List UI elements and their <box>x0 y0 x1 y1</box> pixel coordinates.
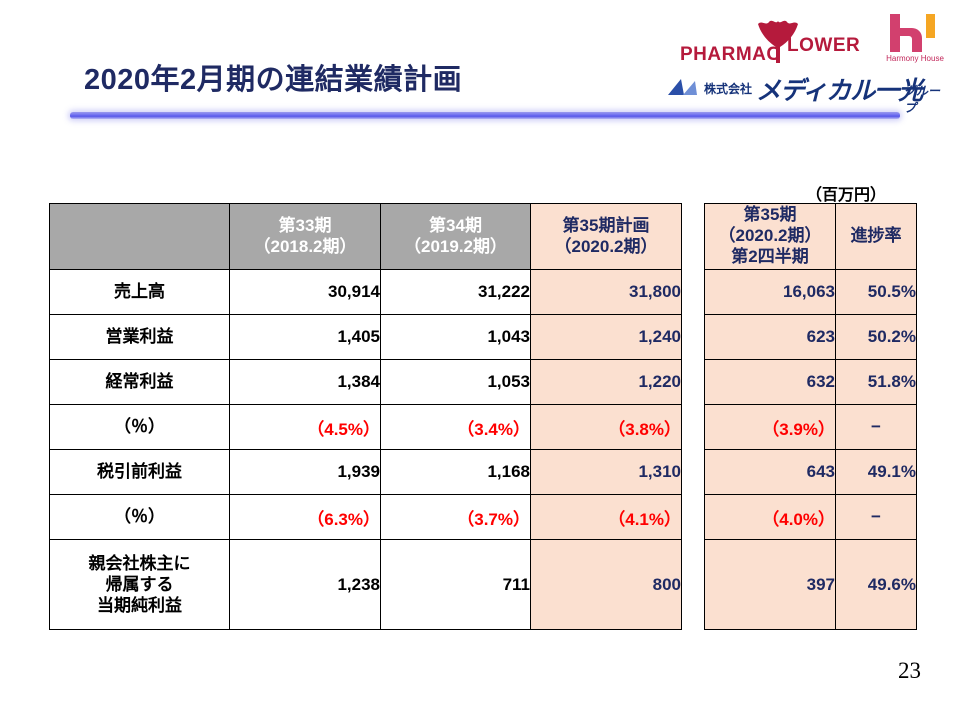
title-underline-rule <box>70 112 900 119</box>
cell-p35-plan: （4.1%） <box>531 495 682 540</box>
row-label-line-1: 親会社株主に <box>50 553 229 574</box>
page-title: 2020年2月期の連結業績計画 <box>84 56 462 98</box>
row-label: 親会社株主に 帰属する 当期純利益 <box>50 540 230 630</box>
header-cell-period-35-q2: 第35期 （2020.2期） 第2四半期 <box>705 204 836 270</box>
table-header-row: 第35期 （2020.2期） 第2四半期 進捗率 <box>705 204 917 270</box>
cell-p35-plan: 31,800 <box>531 270 682 315</box>
header-cell-progress-rate: 進捗率 <box>836 204 917 270</box>
pharmacy-flower-logo: PHARMAC LOWER <box>680 20 870 68</box>
table-row: 親会社株主に 帰属する 当期純利益 1,238 711 800 <box>50 540 682 630</box>
cell-p34: 31,222 <box>381 270 531 315</box>
table-row: （3.9%） − <box>705 405 917 450</box>
medical-logo-company-prefix: 株式会社 <box>704 80 752 97</box>
cell-p33: 1,405 <box>230 315 381 360</box>
cell-p35-plan: 1,310 <box>531 450 682 495</box>
table-row: 623 50.2% <box>705 315 917 360</box>
table-row: 営業利益 1,405 1,043 1,240 <box>50 315 682 360</box>
cell-rate: 50.2% <box>836 315 917 360</box>
triangle-swoosh-icon <box>668 78 698 96</box>
cell-p33: 1,939 <box>230 450 381 495</box>
row-label: （％） <box>50 405 230 450</box>
header-line-1: 第35期計画 <box>531 216 681 237</box>
header-line-1: 第35期 <box>705 205 835 226</box>
header-line-3: 第2四半期 <box>705 247 835 268</box>
row-label: 営業利益 <box>50 315 230 360</box>
cell-rate: 50.5% <box>836 270 917 315</box>
cell-p34: （3.4%） <box>381 405 531 450</box>
row-label: 経常利益 <box>50 360 230 405</box>
cell-q2: 16,063 <box>705 270 836 315</box>
header-line-2: （2020.2期） <box>531 237 681 258</box>
cell-p33: （6.3%） <box>230 495 381 540</box>
header-cell-period-34: 第34期 （2019.2期） <box>381 204 531 270</box>
table-row: 税引前利益 1,939 1,168 1,310 <box>50 450 682 495</box>
cell-rate: 49.1% <box>836 450 917 495</box>
medical-logo-suffix: グループ <box>904 82 948 116</box>
header-line-2: （2019.2期） <box>381 237 530 258</box>
header-line-1: 第34期 <box>381 216 530 237</box>
cell-rate: − <box>836 495 917 540</box>
header-line-2: （2020.2期） <box>705 226 835 247</box>
cell-q2: （3.9%） <box>705 405 836 450</box>
harmony-house-caption: Harmony House <box>874 54 956 63</box>
logo-area: PHARMAC LOWER Harmony House 株式会社 メディカル一光… <box>640 0 960 120</box>
row-label-line-3: 当期純利益 <box>50 595 229 616</box>
header-cell-period-35-plan: 第35期計画 （2020.2期） <box>531 204 682 270</box>
table-row: 売上高 30,914 31,222 31,800 <box>50 270 682 315</box>
row-label: （％） <box>50 495 230 540</box>
table-row: （％） （6.3%） （3.7%） （4.1%） <box>50 495 682 540</box>
pharmacy-logo-right-text: LOWER <box>787 35 860 57</box>
cell-p33: 30,914 <box>230 270 381 315</box>
unit-note: （百万円） <box>806 181 886 205</box>
table-row: 397 49.6% <box>705 540 917 630</box>
cell-q2: 623 <box>705 315 836 360</box>
header-line-1: 第33期 <box>230 216 380 237</box>
cell-p35-plan: 1,240 <box>531 315 682 360</box>
consolidated-results-table: 第33期 （2018.2期） 第34期 （2019.2期） 第35期計画 （20… <box>49 203 682 630</box>
table-row: 643 49.1% <box>705 450 917 495</box>
cell-p35-plan: （3.8%） <box>531 405 682 450</box>
row-label: 税引前利益 <box>50 450 230 495</box>
cell-rate: 51.8% <box>836 360 917 405</box>
cell-rate: 49.6% <box>836 540 917 630</box>
h-letter-icon <box>874 12 956 54</box>
row-label: 売上高 <box>50 270 230 315</box>
table-row: （％） （4.5%） （3.4%） （3.8%） <box>50 405 682 450</box>
cell-p34: （3.7%） <box>381 495 531 540</box>
cell-p34: 1,043 <box>381 315 531 360</box>
cell-p35-plan: 1,220 <box>531 360 682 405</box>
table-header-row: 第33期 （2018.2期） 第34期 （2019.2期） 第35期計画 （20… <box>50 204 682 270</box>
table-row: 経常利益 1,384 1,053 1,220 <box>50 360 682 405</box>
cell-q2: 643 <box>705 450 836 495</box>
cell-q2: （4.0%） <box>705 495 836 540</box>
cell-p34: 711 <box>381 540 531 630</box>
table-row: 16,063 50.5% <box>705 270 917 315</box>
cell-p33: （4.5%） <box>230 405 381 450</box>
q2-progress-table: 第35期 （2020.2期） 第2四半期 進捗率 16,063 50.5% 62… <box>704 203 917 630</box>
cell-p33: 1,238 <box>230 540 381 630</box>
row-label-line-2: 帰属する <box>50 574 229 595</box>
cell-p33: 1,384 <box>230 360 381 405</box>
header-cell-blank <box>50 204 230 270</box>
table-row: （4.0%） − <box>705 495 917 540</box>
medical-logo-name: メディカル一光 <box>756 71 922 107</box>
cell-q2: 397 <box>705 540 836 630</box>
page-number: 23 <box>898 658 921 684</box>
cell-p34: 1,053 <box>381 360 531 405</box>
cell-rate: − <box>836 405 917 450</box>
medical-ikko-group-logo: 株式会社 メディカル一光 グループ <box>668 72 948 104</box>
header-line-1: 進捗率 <box>836 226 916 247</box>
cell-q2: 632 <box>705 360 836 405</box>
header-line-2: （2018.2期） <box>230 237 380 258</box>
cell-p34: 1,168 <box>381 450 531 495</box>
cell-p35-plan: 800 <box>531 540 682 630</box>
harmony-house-logo: Harmony House <box>874 12 956 70</box>
table-row: 632 51.8% <box>705 360 917 405</box>
header-cell-period-33: 第33期 （2018.2期） <box>230 204 381 270</box>
